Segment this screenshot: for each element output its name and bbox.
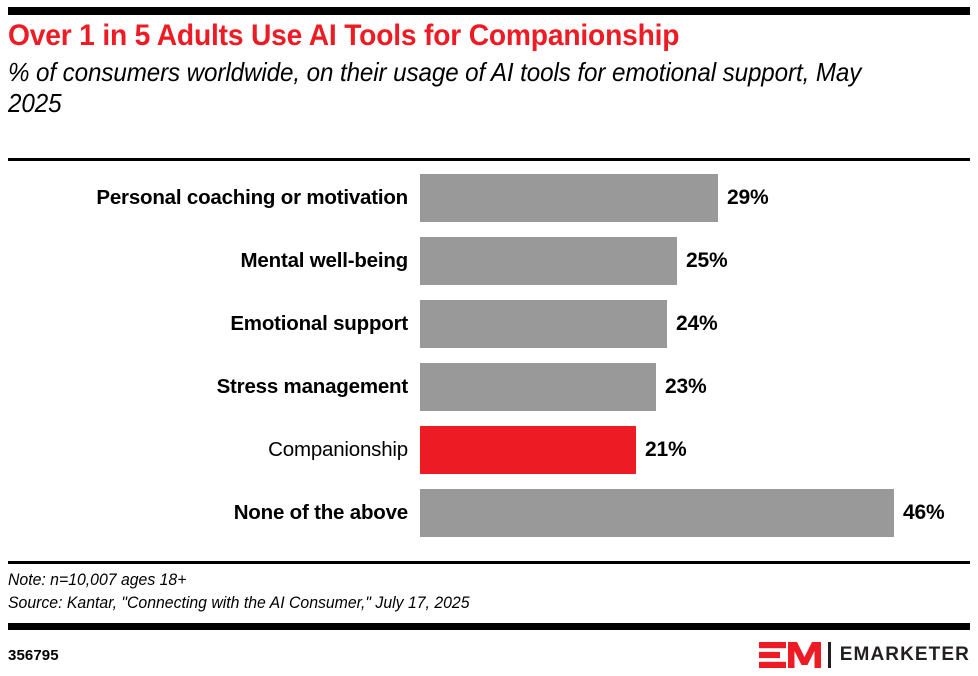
- bar-personal-coaching-or-motivation: [420, 174, 718, 222]
- category-label: Mental well-being: [0, 249, 420, 273]
- category-label: Companionship: [0, 438, 420, 462]
- logo-divider: [828, 642, 831, 668]
- header-divider: [8, 158, 970, 161]
- bar-row: Companionship 21%: [0, 426, 978, 474]
- category-label: Personal coaching or motivation: [0, 186, 420, 210]
- chart-id: 356795: [8, 647, 59, 664]
- category-label: None of the above: [0, 501, 420, 525]
- chart-header: Over 1 in 5 Adults Use AI Tools for Comp…: [8, 18, 970, 119]
- top-rule: [8, 7, 970, 15]
- bar-mental-well-being: [420, 237, 677, 285]
- bar-companionship: [420, 426, 636, 474]
- bar-none-of-the-above: [420, 489, 894, 537]
- bar-track: 46%: [420, 489, 978, 537]
- bar-row: Stress management 23%: [0, 363, 978, 411]
- bar-track: 21%: [420, 426, 978, 474]
- chart-footer: 356795 EMARKETER: [8, 641, 970, 669]
- bar-row: None of the above 46%: [0, 489, 978, 537]
- bar-track: 23%: [420, 363, 978, 411]
- note-text: Note: n=10,007 ages 18+: [8, 568, 845, 591]
- emarketer-logo: EMARKETER: [759, 642, 970, 668]
- bar-chart: Personal coaching or motivation 29% Ment…: [0, 174, 978, 556]
- chart-subtitle: % of consumers worldwide, on their usage…: [8, 57, 903, 119]
- bar-value-label: 24%: [676, 312, 717, 336]
- chart-page: Over 1 in 5 Adults Use AI Tools for Comp…: [0, 0, 978, 676]
- bar-row: Emotional support 24%: [0, 300, 978, 348]
- bar-track: 29%: [420, 174, 978, 222]
- bar-track: 25%: [420, 237, 978, 285]
- bar-value-label: 29%: [727, 186, 768, 210]
- bar-value-label: 25%: [686, 249, 727, 273]
- bar-track: 24%: [420, 300, 978, 348]
- bar-row: Personal coaching or motivation 29%: [0, 174, 978, 222]
- footer-divider: [8, 623, 970, 630]
- bar-stress-management: [420, 363, 656, 411]
- bar-value-label: 23%: [665, 375, 706, 399]
- brand-wordmark: EMARKETER: [840, 644, 970, 666]
- bar-value-label: 46%: [903, 501, 944, 525]
- em-monogram-icon: [759, 642, 821, 668]
- chart-title: Over 1 in 5 Adults Use AI Tools for Comp…: [8, 18, 912, 54]
- chart-notes: Note: n=10,007 ages 18+ Source: Kantar, …: [8, 568, 845, 614]
- bar-row: Mental well-being 25%: [0, 237, 978, 285]
- category-label: Stress management: [0, 375, 420, 399]
- bar-value-label: 21%: [645, 438, 686, 462]
- bar-emotional-support: [420, 300, 667, 348]
- category-label: Emotional support: [0, 312, 420, 336]
- note-divider: [8, 561, 970, 564]
- source-text: Source: Kantar, "Connecting with the AI …: [8, 591, 845, 614]
